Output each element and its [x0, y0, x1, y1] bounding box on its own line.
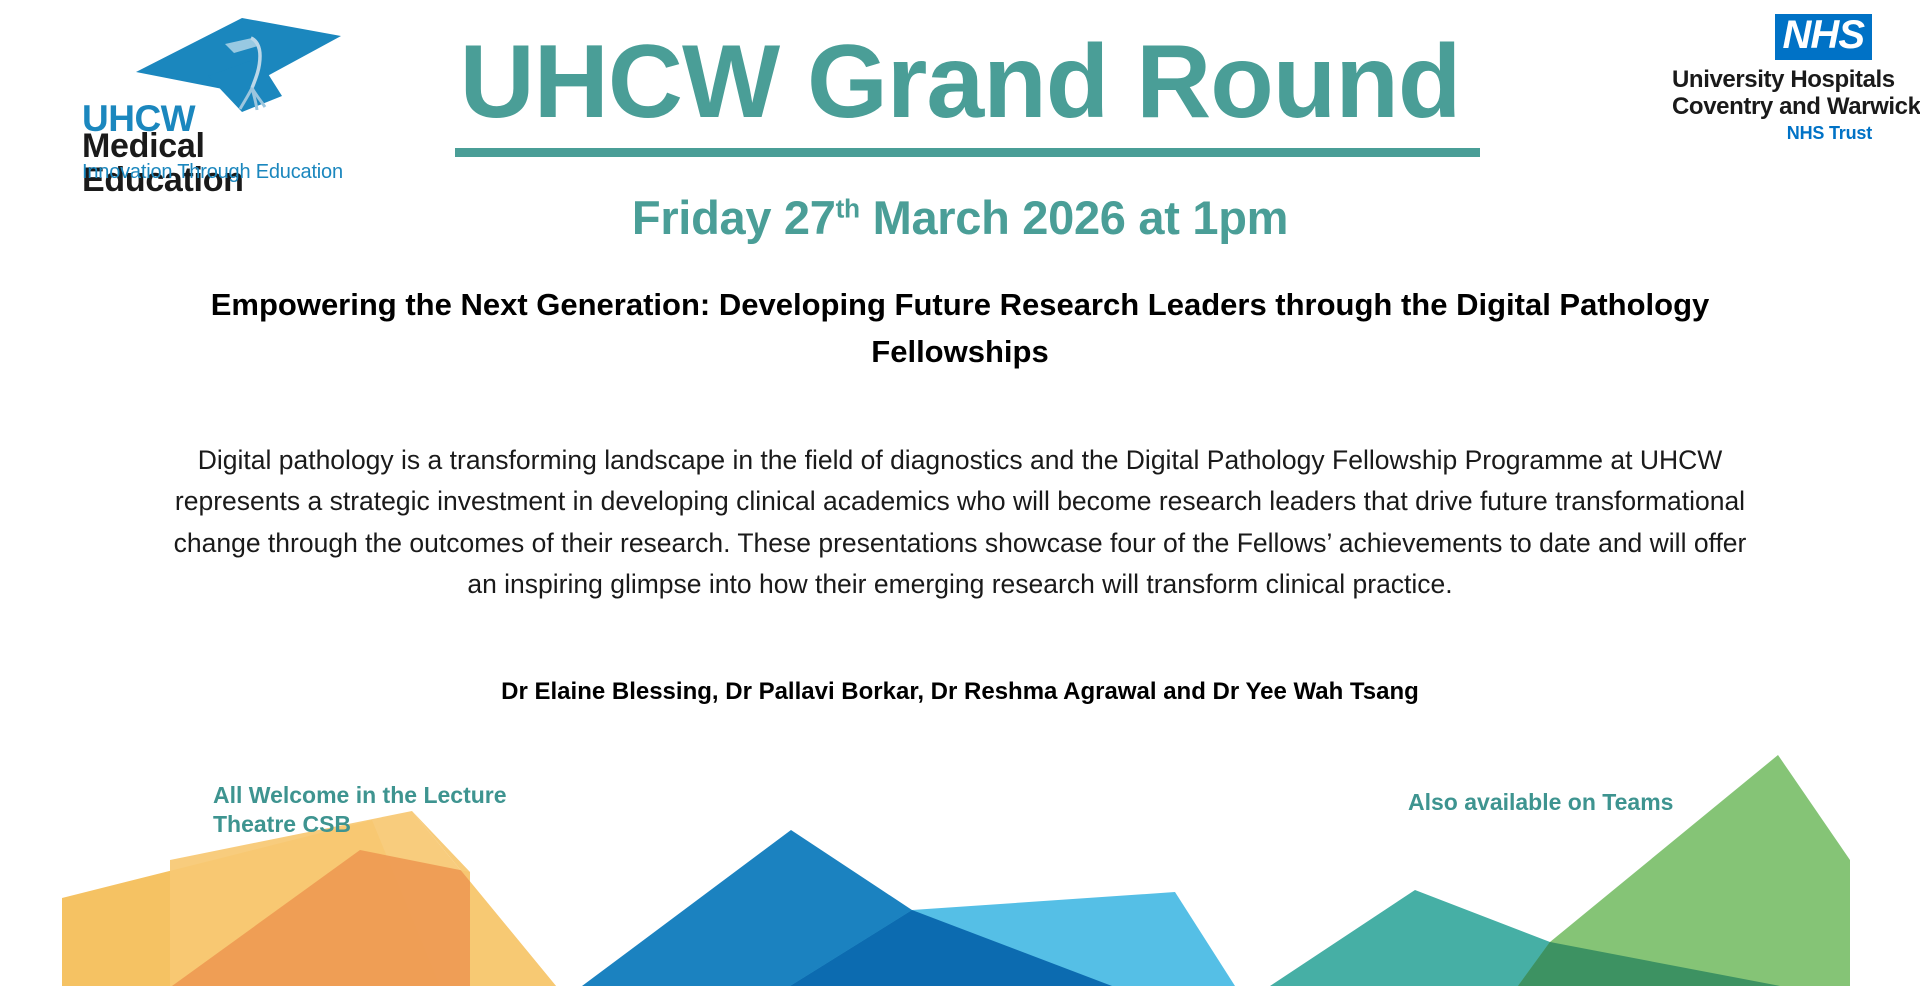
event-date-suffix: March 2026 at 1pm — [860, 191, 1288, 244]
blue-mountain-group — [582, 830, 1235, 986]
poster-header: UHCW Medical Education Innovation Throug… — [0, 0, 1920, 260]
mountain-shapes-svg — [0, 720, 1920, 1000]
page-title: UHCW Grand Round — [0, 28, 1920, 137]
title-underline — [455, 148, 1480, 157]
event-date-prefix: Friday 27 — [632, 191, 836, 244]
session-title: Empowering the Next Generation: Developi… — [140, 282, 1780, 375]
venue-note: All Welcome in the Lecture Theatre CSB — [213, 781, 543, 838]
teams-note: Also available on Teams — [1408, 788, 1738, 817]
uhcw-logo-tagline: Innovation Through Education — [82, 162, 343, 182]
event-date-ordinal: th — [836, 193, 860, 223]
mountain-shapes — [0, 720, 1920, 1000]
session-abstract: Digital pathology is a transforming land… — [160, 440, 1760, 606]
event-date: Friday 27th March 2026 at 1pm — [0, 190, 1920, 245]
speaker-list: Dr Elaine Blessing, Dr Pallavi Borkar, D… — [160, 678, 1760, 706]
